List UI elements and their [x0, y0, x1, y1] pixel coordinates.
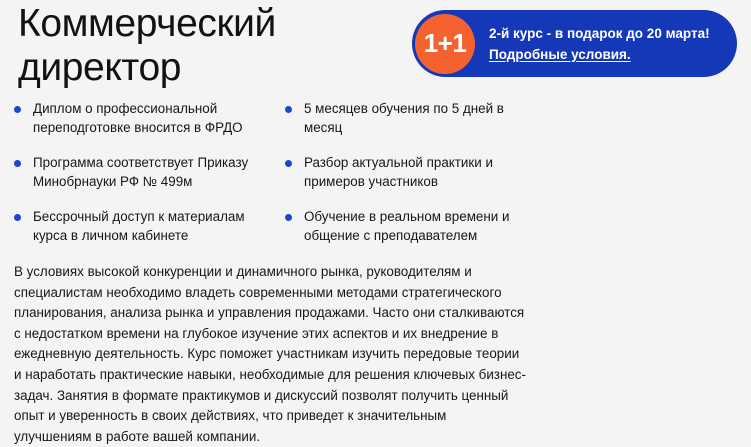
page-title: Коммерческий директор [18, 2, 378, 90]
bullet-dot-icon [285, 160, 292, 167]
list-item: Программа соответствует Приказу Минобрна… [14, 154, 263, 191]
bullet-dot-icon [14, 106, 21, 113]
list-item: Бессрочный доступ к материалам курса в л… [14, 208, 263, 245]
list-item-label: Обучение в реальном времени и общение с … [304, 208, 534, 245]
list-item: Разбор актуальной практики и примеров уч… [285, 154, 534, 191]
bullet-dot-icon [285, 214, 292, 221]
list-item: 5 месяцев обучения по 5 дней в месяц [285, 100, 534, 137]
bullet-dot-icon [14, 160, 21, 167]
list-item-label: Бессрочный доступ к материалам курса в л… [33, 208, 263, 245]
features-section: Диплом о профессиональной переподготовке… [14, 100, 534, 245]
bullet-dot-icon [14, 214, 21, 221]
list-item: Диплом о профессиональной переподготовке… [14, 100, 263, 137]
list-item-label: Разбор актуальной практики и примеров уч… [304, 154, 534, 191]
promo-details-link[interactable]: Подробные условия. [489, 45, 631, 64]
features-right-column: 5 месяцев обучения по 5 дней в месяц Раз… [285, 100, 534, 245]
list-item: Обучение в реальном времени и общение с … [285, 208, 534, 245]
promo-banner[interactable]: 1+1 2-й курс - в подарок до 20 марта! По… [412, 10, 737, 77]
course-description: В условиях высокой конкуренции и динамич… [14, 262, 526, 447]
promo-text-group: 2-й курс - в подарок до 20 марта! Подроб… [475, 24, 737, 64]
promo-badge: 1+1 [415, 14, 475, 74]
features-left-column: Диплом о профессиональной переподготовке… [14, 100, 263, 245]
list-item-label: Диплом о профессиональной переподготовке… [33, 100, 263, 137]
list-item-label: Программа соответствует Приказу Минобрна… [33, 154, 263, 191]
bullet-dot-icon [285, 106, 292, 113]
list-item-label: 5 месяцев обучения по 5 дней в месяц [304, 100, 534, 137]
promo-headline: 2-й курс - в подарок до 20 марта! [489, 24, 727, 43]
